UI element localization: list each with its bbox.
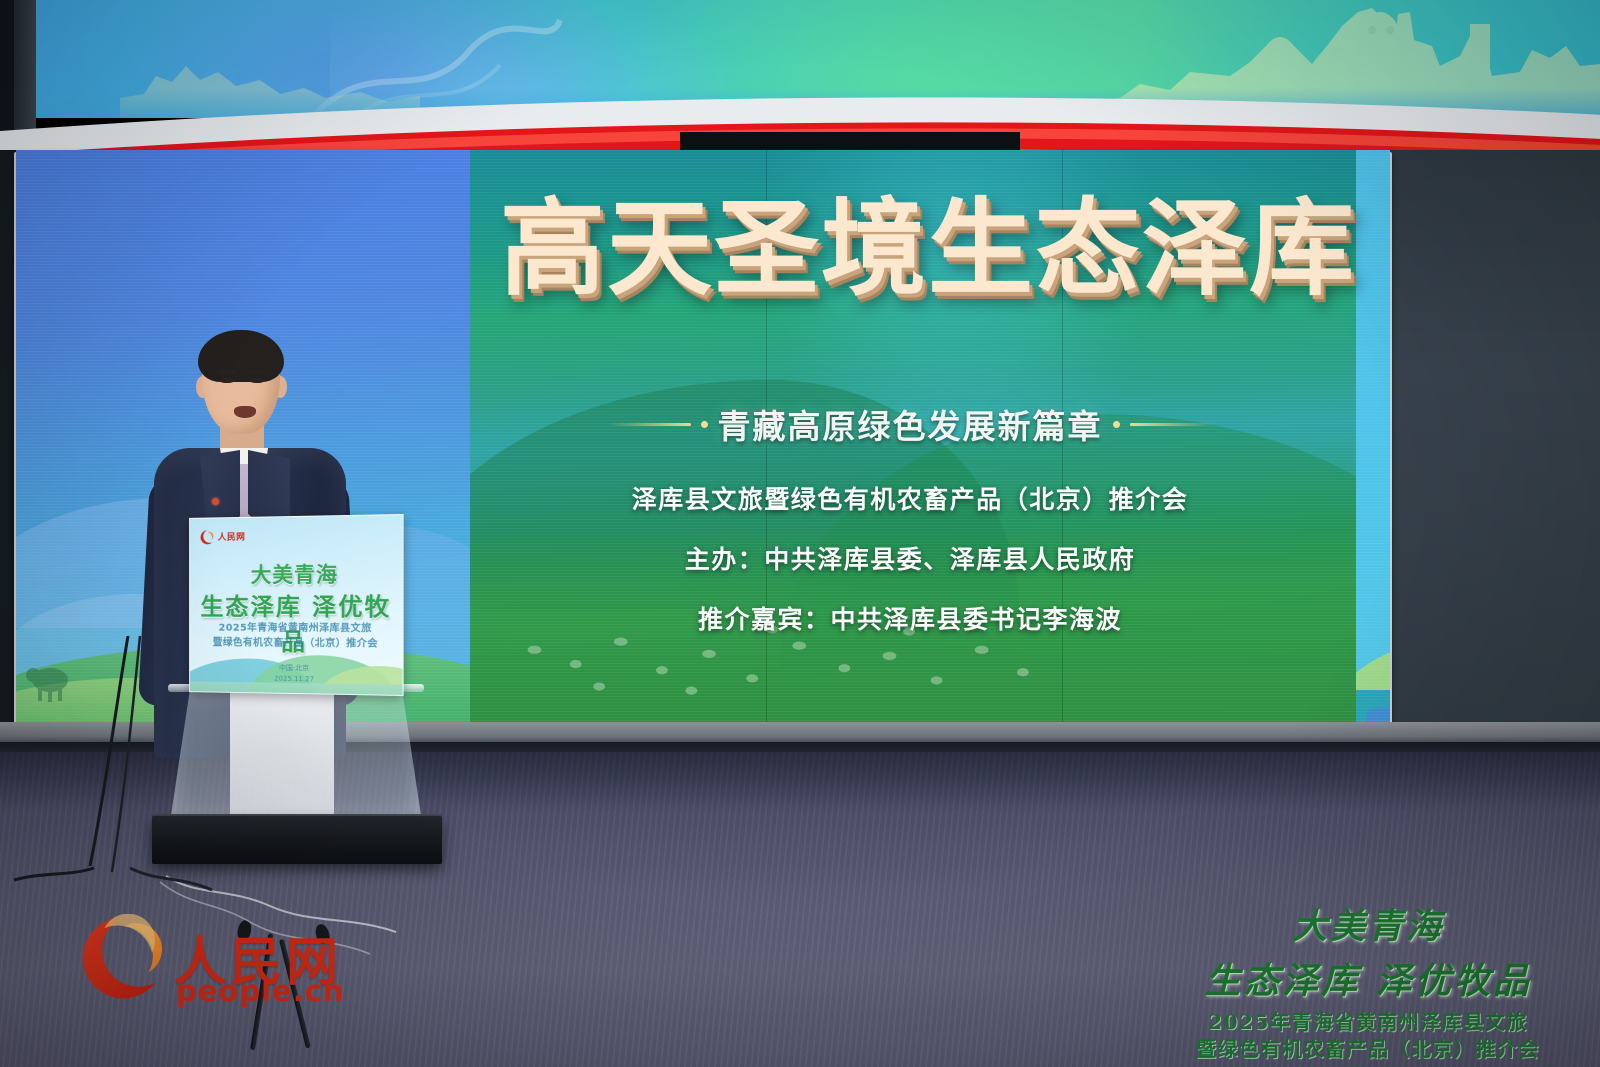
event-watermark: 大美青海 生态泽库 泽优牧品 2025年青海省黄南州泽库县文旅 暨绿色有机农畜产…: [1168, 898, 1568, 1063]
podium: 人民网 大美青海 生态泽库 泽优牧品 2025年青海省黄南州泽库县文旅 暨绿色有…: [130, 516, 440, 876]
screen-subtitle: 青藏高原绿色发展新篇章: [718, 400, 1103, 448]
watermark-line-3: 2025年青海省黄南州泽库县文旅: [1168, 1009, 1568, 1036]
screen-subtitle-row: 青藏高原绿色发展新篇章: [620, 400, 1200, 448]
subtitle-ornament-left: [607, 423, 691, 426]
right-panel-scanlines: [1356, 150, 1390, 724]
stage-photo-scene: 高天圣境生态泽库 青藏高原绿色发展新篇章 泽库县文旅暨绿色有机农畜产品（北京）推…: [0, 0, 1600, 1067]
sign-headline-1: 大美青海: [190, 558, 403, 589]
speaker-lapel-pin: [212, 498, 219, 505]
screen-main-title: 高天圣境生态泽库: [500, 196, 1320, 303]
subtitle-ornament-right: [1130, 423, 1214, 426]
speaker-eye-left: [220, 378, 234, 383]
subtitle-dot-right: [1113, 421, 1120, 428]
watermark-line-2: 生态泽库 泽优牧品: [1168, 952, 1568, 1004]
watermark-line-1: 大美青海: [1168, 898, 1568, 949]
led-panel-right: [1356, 150, 1390, 724]
people-cn-swirl-icon: [78, 914, 166, 1002]
screen-info-line-1: 泽库县文旅暨绿色有机农畜产品（北京）推介会: [560, 480, 1260, 516]
speaker-eyebrow-left: [218, 370, 236, 374]
screen-info-block: 泽库县文旅暨绿色有机农畜产品（北京）推介会 主办：中共泽库县委、泽库县人民政府 …: [560, 480, 1260, 660]
sign-brand-logo: 人民网: [200, 528, 246, 545]
speaker-eyebrow-right: [248, 370, 266, 374]
sign-brand-text: 人民网: [218, 530, 246, 543]
stage-cables: [10, 636, 270, 886]
screen-info-line-3: 推介嘉宾：中共泽库县委书记李海波: [560, 600, 1260, 636]
screen-info-line-2: 主办：中共泽库县委、泽库县人民政府: [560, 540, 1260, 576]
brand-name-en: people.cn: [176, 974, 345, 1008]
watermark-line-4: 暨绿色有机农畜产品（北京）推介会: [1168, 1036, 1568, 1063]
subtitle-dot-left: [701, 421, 708, 428]
speaker-mouth: [234, 406, 256, 418]
speaker-eye-right: [250, 378, 264, 383]
people-cn-watermark: 人民网 people.cn: [78, 912, 358, 1012]
people-cn-swirl-icon: [200, 529, 215, 545]
speaker-hair: [198, 330, 284, 382]
